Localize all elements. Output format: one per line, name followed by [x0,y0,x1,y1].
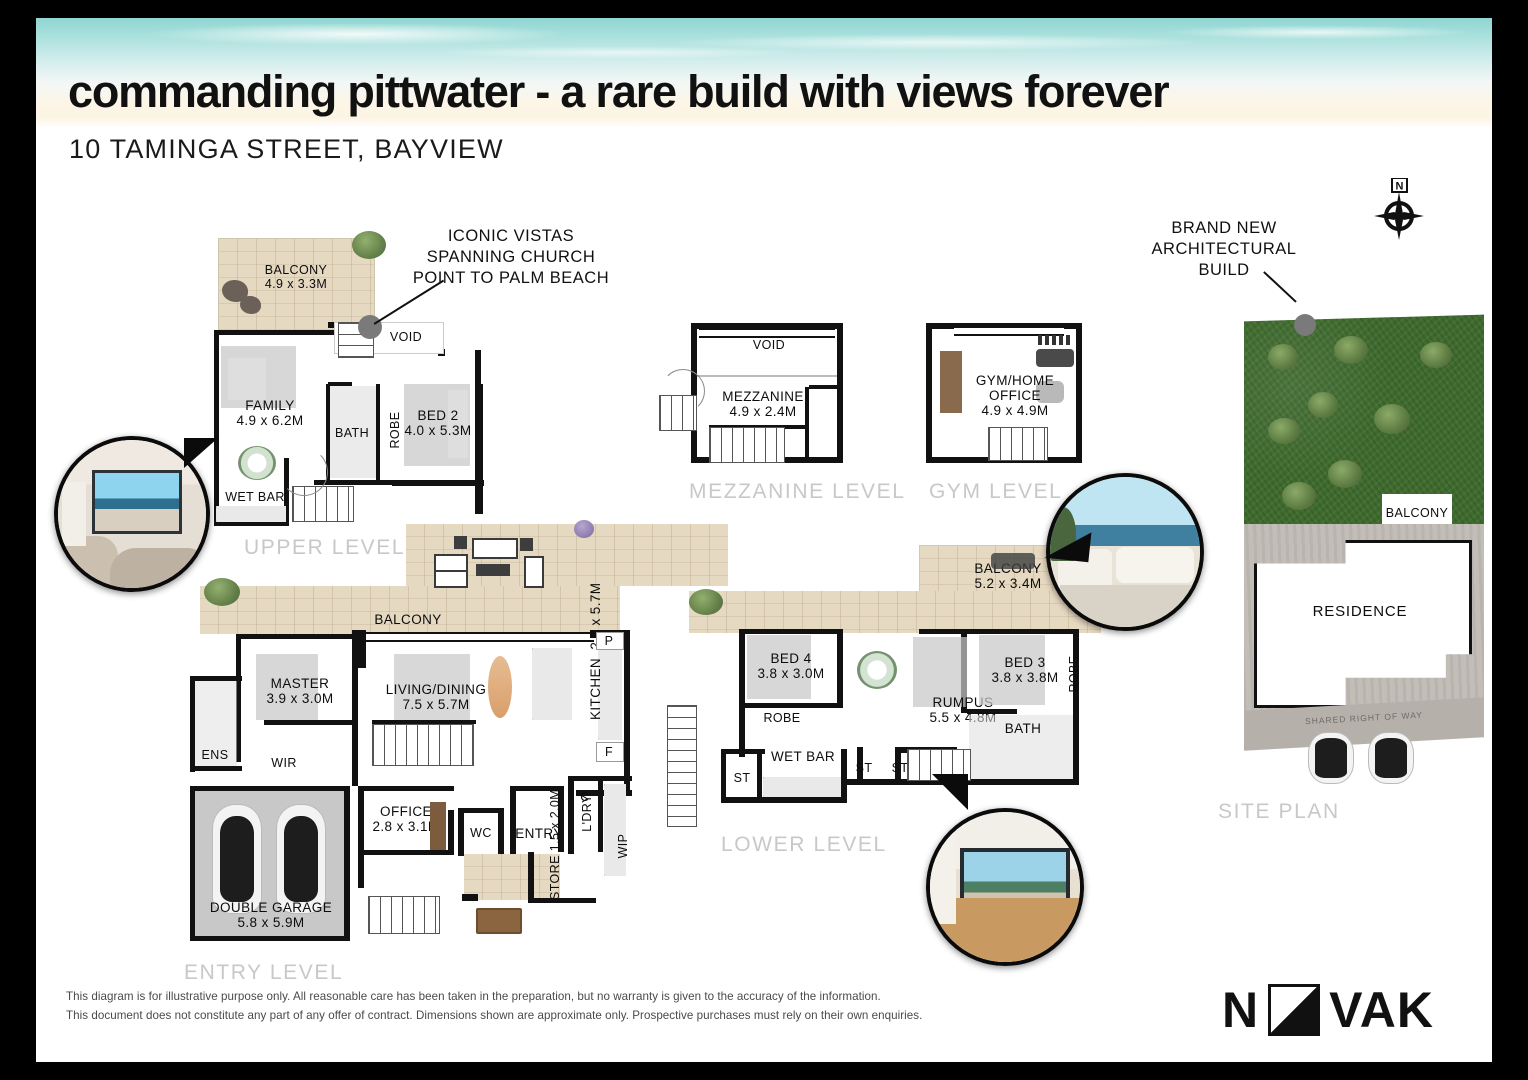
room-name: OFFICE [380,804,432,819]
furniture-outdoor [520,538,533,551]
wall [721,749,765,754]
lower-level-plan: BALCONY 5.2 x 3.4M BED 4 3.8 x 3.0M [661,533,1111,833]
dining-table-icon [488,656,512,718]
wall [358,786,454,791]
plant-icon [1420,342,1452,368]
car-icon [1308,732,1354,784]
room-name: STORE [548,855,562,900]
furniture-outdoor [434,570,468,588]
kitchen-island [532,648,572,720]
room-dims: 3.8 x 3.8M [991,670,1058,685]
room-label-F: F [598,745,620,759]
wall [510,786,516,856]
gym-level-plan: GYM/HOME OFFICE 4.9 x 4.9M [926,323,1091,473]
level-name-entry: ENTRY LEVEL [184,961,343,985]
furniture-outdoor [524,556,544,588]
stair-icon [667,705,697,827]
plant-icon [1374,404,1410,434]
car-icon [276,804,326,914]
wall [475,384,483,514]
wall [190,936,350,941]
door-arc [280,448,328,496]
room-name: MEZZANINE [722,389,804,404]
wall [697,375,837,377]
page-subtitle: 10 TAMINGA STREET, BAYVIEW [69,134,504,165]
callout-tail [184,438,218,468]
wall [462,894,478,901]
furniture-outdoor [454,536,467,549]
room-name: BED 4 [770,651,811,666]
wall [352,680,358,786]
room-label-wet-bar-upper: WET BAR [214,490,296,504]
wall [624,630,630,676]
furniture-cabinet [940,351,962,413]
page-title: commanding pittwater - a rare build with… [68,66,1168,118]
room-label-mezzanine: MEZZANINE 4.9 x 2.4M [715,389,811,419]
furniture-outdoor [991,553,1035,569]
car-icon [1368,732,1414,784]
room-label-site-balcony: BALCONY [1382,506,1452,520]
plant-icon [1268,344,1298,370]
brand-logo: N VAK [1222,984,1434,1036]
level-name-site: SITE PLAN [1218,800,1340,824]
svg-text:N: N [1396,181,1404,193]
brand-logo-n: N [1222,985,1259,1035]
wall [392,480,484,486]
wall [837,323,843,463]
wall [809,385,837,389]
annotation-build: BRAND NEW ARCHITECTURAL BUILD [1134,218,1314,281]
room-dims: 4.9 x 3.3M [265,277,327,291]
room-label-st-1: ST [725,771,759,785]
room-name: GYM/HOME OFFICE [976,373,1054,403]
plant-icon [1268,418,1300,444]
room-label-bed2: BED 2 4.0 x 5.3M [398,408,478,438]
stair-icon [709,427,785,463]
wall [264,720,358,725]
wall [967,629,1077,634]
disclaimer-text: This diagram is for illustrative purpose… [66,988,1066,1026]
wall [841,749,847,803]
plant-icon [1308,392,1338,418]
furniture-outdoor [472,538,518,559]
room-label-P: P [598,634,620,648]
room-label-upper-void: VOID [381,330,431,344]
furniture-outdoor [476,564,510,576]
compass-icon: N [1366,178,1428,242]
brand-logo-mark [1268,984,1320,1036]
room-label-store: STORE 1.5 x 2.0M [548,808,562,900]
room-dims: 4.0 x 5.3M [404,423,471,438]
entry-level-plan: BALCONY MASTER 3.9 x 3.0M ENS WIR [176,508,636,958]
wall [926,323,932,463]
dining-setting-icon [238,446,276,480]
room-dims: 5.2 x 3.4M [974,576,1041,591]
window [366,632,594,642]
wall [1076,323,1082,463]
room-dims: 4.9 x 4.9M [981,403,1048,418]
room-name: BED 3 [1004,655,1045,670]
plant-icon [352,231,386,259]
stair-icon [372,724,474,766]
wall [919,629,967,634]
wall [236,634,356,639]
wall [358,630,366,668]
window [699,328,835,338]
wall [214,330,334,335]
wall [624,676,630,748]
callout-tail [932,774,968,810]
car-icon [212,804,262,914]
gym-equipment-icon [1038,335,1072,345]
wall [344,786,350,941]
room-name: LIVING/DINING [386,682,486,697]
room-name: BALCONY [265,263,328,277]
wall [721,797,845,803]
level-name-gym: GYM LEVEL [929,480,1062,504]
stair-icon [988,427,1048,461]
room-label-bath-lower: BATH [991,721,1055,736]
room-label-bath-upper: BATH [326,426,378,440]
room-label-residence: RESIDENCE [1290,604,1430,621]
room-dims: 5.8 x 5.9M [237,915,304,930]
wall [739,629,841,634]
room-dims: 3.8 x 3.0M [757,666,824,681]
entry-porch-deck [464,854,560,900]
callout-tail [1045,528,1092,562]
room-label-gym: GYM/HOME OFFICE 4.9 x 4.9M [964,373,1066,418]
wall [328,382,352,386]
floorplan-page: commanding pittwater - a rare build with… [0,0,1528,1080]
plant-icon [1334,336,1368,364]
furniture-rug [228,358,266,400]
furniture-desk [430,802,446,850]
room-name: KITCHEN [588,658,603,720]
room-label-robe-bed4: ROBE [751,711,813,725]
wall [811,703,843,708]
wall [598,780,603,852]
room-label-kitchen: KITCHEN 2.7 x 5.7M [588,610,603,720]
mezzanine-level-plan: VOID MEZZANINE 4.9 x 2.4M [691,323,856,473]
plant-icon [574,520,594,538]
wall [458,808,504,813]
counter [763,777,841,797]
plant-icon [204,578,240,606]
rock-icon [240,296,261,314]
room-dims: 3.9 x 3.0M [266,691,333,706]
plant-icon [1282,482,1316,510]
room-label-ens: ENS [190,748,240,762]
annotation-vista: ICONIC VISTAS SPANNING CHURCH POINT TO P… [396,226,626,289]
stair-icon [368,896,440,934]
gym-equipment-icon [1036,349,1074,367]
room-dims: 4.9 x 6.2M [236,413,303,428]
room-label-wet-bar-lower: WET BAR [765,749,841,764]
doormat-icon [476,908,522,934]
room-label-upper-balcony: BALCONY 4.9 x 3.3M [226,263,366,291]
plant-icon [1328,460,1362,488]
wall [837,629,843,707]
room-name: DOUBLE GARAGE [210,900,332,915]
room-label-robe-bed3: ROBE [1067,649,1081,699]
room-label-mezz-void: VOID [739,338,799,352]
room-label-entry-balcony: BALCONY [348,612,468,627]
room-label-C: C [574,790,596,804]
room-dims: 1.5 x 2.0M [548,789,562,851]
plant-icon [689,589,723,615]
photo-callout-bedroom [926,808,1084,966]
wall [376,384,380,482]
site-plan: BALCONY RESIDENCE SHARED RIGHT OF WAY [1216,318,1486,788]
wall [236,634,241,680]
room-label-wip: WIP [616,824,630,868]
wall [568,776,574,854]
wall [372,720,476,724]
room-label-wir: WIR [254,756,314,770]
floorplan-sheet: commanding pittwater - a rare build with… [36,18,1492,1062]
room-label-family: FAMILY 4.9 x 6.2M [216,398,324,428]
dining-setting-icon [857,651,897,689]
brand-logo-vak: VAK [1329,985,1434,1035]
room-label-garage: DOUBLE GARAGE 5.8 x 5.9M [198,900,344,930]
wall [475,350,481,388]
room-label-master: MASTER 3.9 x 3.0M [256,676,344,706]
door-arc [661,369,705,413]
room-label-bed3: BED 3 3.8 x 3.8M [979,655,1071,685]
wall [190,766,242,771]
room-name: BED 2 [417,408,458,423]
wall [805,387,809,461]
room-dims: 7.5 x 5.7M [402,697,469,712]
lower-balcony-deck [689,591,1101,633]
wall [739,629,745,757]
room-name: MASTER [271,676,330,691]
room-label-st-2: ST [847,761,881,775]
wall [528,898,596,903]
callout-dot [1294,314,1316,336]
room-label-wc: WC [462,826,500,840]
room-label-bed4: BED 4 3.8 x 3.0M [745,651,837,681]
wall [358,850,454,855]
room-name: FAMILY [245,398,294,413]
level-name-lower: LOWER LEVEL [721,833,887,857]
wall [739,703,815,708]
wall [528,852,534,902]
level-name-mezzanine: MEZZANINE LEVEL [689,480,906,504]
room-label-living-dining: LIVING/DINING 7.5 x 5.7M [374,682,498,712]
room-dims: 4.9 x 2.4M [729,404,796,419]
